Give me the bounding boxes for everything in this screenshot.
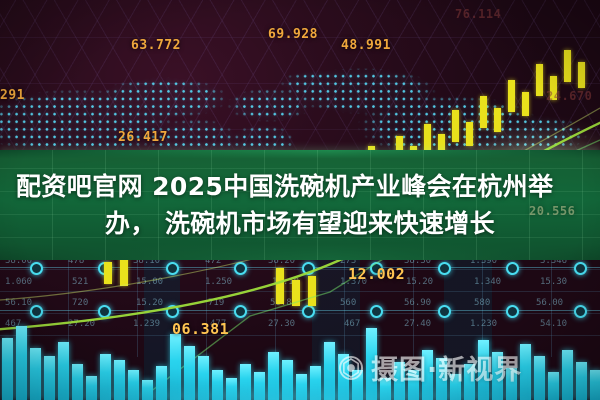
camera-aperture-icon [338, 355, 364, 381]
overlay-number: 63.772 [131, 38, 181, 53]
overlay-number: 24.670 [546, 89, 592, 103]
headline-block: 配资吧官网 2025中国洗碗机产业峰会在杭州举 办， 洗碗机市场有望迎来快速增长 [0, 150, 600, 260]
overlay-number: 76.114 [455, 7, 501, 21]
overlay-number: 291 [0, 88, 25, 103]
overlay-number: 26.417 [118, 130, 168, 145]
headline-line-1: 配资吧官网 2025中国洗碗机产业峰会在杭州举 [16, 168, 584, 205]
overlay-number: 20.556 [529, 204, 575, 218]
watermark-text: 摄图·新视界 [371, 348, 522, 387]
headline-line-2: 办， 洗碗机市场有望迎来快速增长 [16, 205, 584, 242]
watermark: 摄图·新视界 [338, 348, 522, 387]
overlay-number: 48.991 [341, 38, 391, 53]
overlay-number: 69.928 [268, 27, 318, 42]
overlay-number: 12.002 [348, 265, 405, 283]
overlay-number: 06.381 [172, 320, 229, 338]
news-banner-image: 38.0047838.1047238.2027338.301.3903.3461… [0, 0, 600, 400]
